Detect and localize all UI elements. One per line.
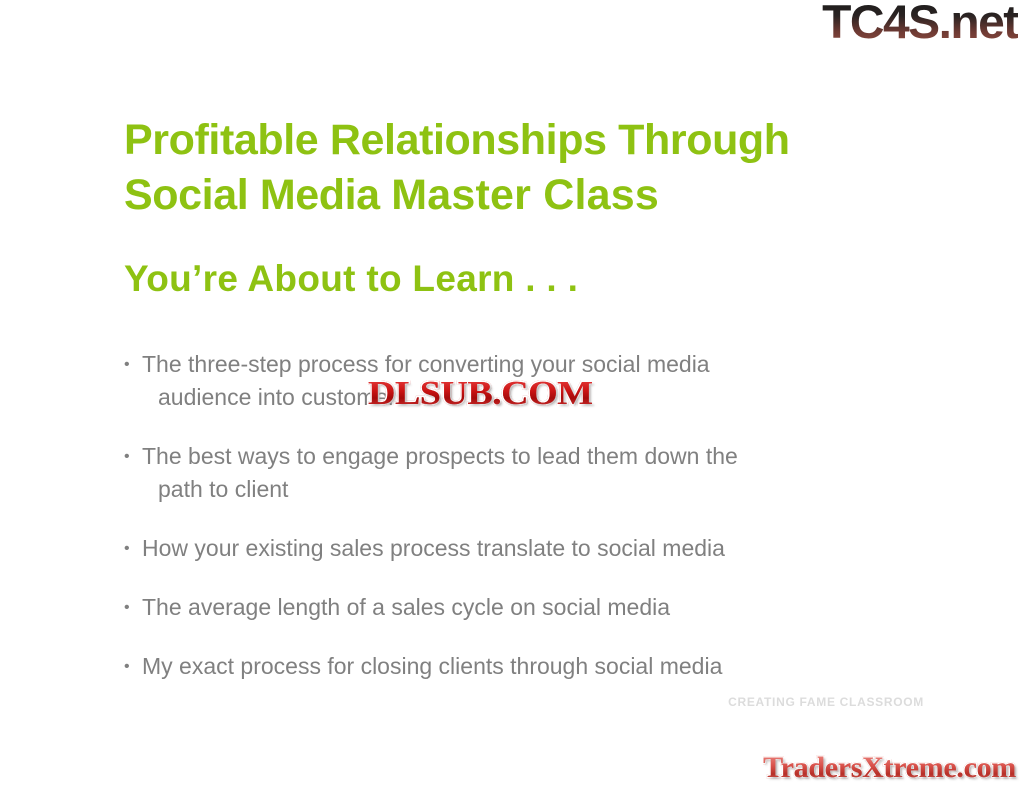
bullet-dot-icon: • xyxy=(124,591,130,624)
list-item: • The average length of a sales cycle on… xyxy=(122,591,912,624)
site-logo-tc4s: TC4S.net xyxy=(822,0,1018,45)
list-item-line-1: The three-step process for converting yo… xyxy=(142,351,710,377)
title-line-2: Social Media Master Class xyxy=(124,168,924,223)
list-item-line-1: How your existing sales process translat… xyxy=(142,535,725,561)
list-item-line-1: The average length of a sales cycle on s… xyxy=(142,594,670,620)
bullet-dot-icon: • xyxy=(124,348,130,381)
list-item: • How your existing sales process transl… xyxy=(122,532,912,565)
list-item-line-1: The best ways to engage prospects to lea… xyxy=(142,443,738,469)
title-line-1: Profitable Relationships Through xyxy=(124,113,924,168)
slide-canvas: { "branding": { "top_logo": "TC4S.net", … xyxy=(0,0,1024,791)
classroom-footnote: CREATING FAME CLASSROOM xyxy=(529,695,924,709)
bullet-dot-icon: • xyxy=(124,532,130,565)
list-item: • My exact process for closing clients t… xyxy=(122,650,912,683)
page-subtitle: You’re About to Learn . . . xyxy=(124,257,578,301)
title-line-2-emphasis: Master Class xyxy=(391,171,659,219)
bullet-dot-icon: • xyxy=(124,440,130,473)
list-item-line-2: path to client xyxy=(142,473,912,506)
title-line-2-plain: Social Media xyxy=(124,171,391,219)
list-item-line-1: My exact process for closing clients thr… xyxy=(142,653,722,679)
bullet-dot-icon: • xyxy=(124,650,130,683)
list-item: • The best ways to engage prospects to l… xyxy=(122,440,912,506)
site-logo-tradersxtreme: TradersXtreme.com xyxy=(763,751,1016,785)
watermark-dlsub: DLSUB.COM xyxy=(368,377,593,411)
page-title: Profitable Relationships Through Social … xyxy=(124,113,924,223)
